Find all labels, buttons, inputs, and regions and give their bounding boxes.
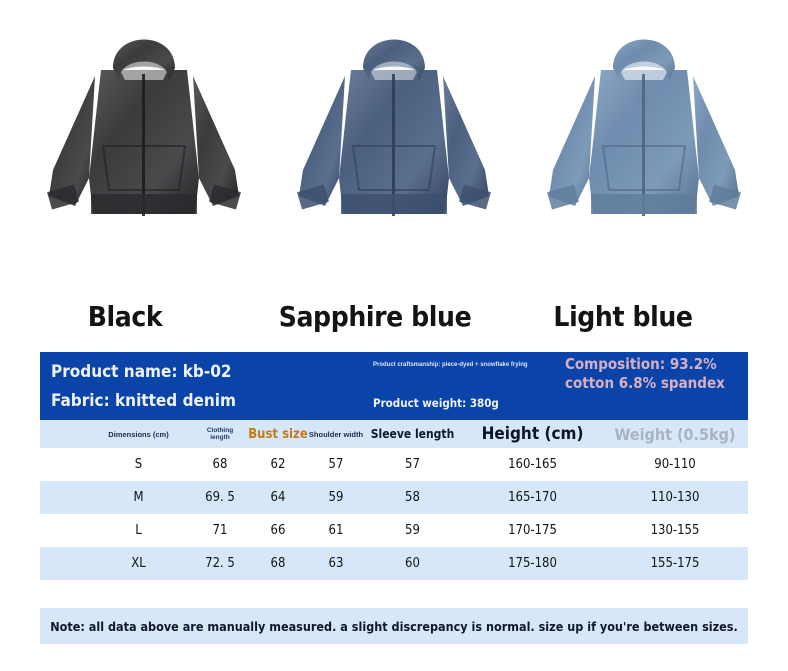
cell-height: 170-175	[460, 514, 605, 547]
cell-weight: 110-130	[605, 481, 745, 514]
hoodie-icon	[39, 18, 249, 230]
measurement-note-banner: Note: all data above are manually measur…	[40, 608, 748, 644]
header-bust-size: Bust size	[249, 420, 307, 448]
banner-middle-column: Product craftsmanship: piece-dyed + snow…	[373, 360, 588, 410]
hoodie-icon	[289, 18, 499, 230]
size-chart-page: Black Sapphire blue Light blue Product n…	[0, 0, 788, 671]
size-table: Dimensions (cm) Clothing length Bust siz…	[40, 420, 748, 580]
cell-clothing-length: 72. 5	[191, 547, 249, 580]
cell-weight: 155-175	[605, 547, 745, 580]
cell-size: L	[86, 514, 191, 547]
product-photo-light-blue[interactable]	[519, 0, 769, 262]
cell-weight: 90-110	[605, 448, 745, 481]
color-label-black: Black	[0, 300, 250, 333]
cell-height: 160-165	[460, 448, 605, 481]
header-weight: Weight (0.5kg)	[605, 420, 745, 448]
table-row: L 71 66 61 59 170-175 130-155	[40, 514, 748, 547]
product-photo-strip	[0, 0, 788, 262]
cell-weight: 130-155	[605, 514, 745, 547]
product-photo-black[interactable]	[19, 0, 269, 262]
header-shoulder-width: Shoulder width	[307, 420, 365, 448]
cell-shoulder: 59	[307, 481, 365, 514]
table-row: M 69. 5 64 59 58 165-170 110-130	[40, 481, 748, 514]
cell-bust: 66	[249, 514, 307, 547]
table-header-row: Dimensions (cm) Clothing length Bust siz…	[40, 420, 748, 448]
craftsmanship-text: Product craftsmanship: piece-dyed + snow…	[373, 360, 588, 370]
cell-clothing-length: 71	[191, 514, 249, 547]
banner-left-column: Product name: kb-02 Fabric: knitted deni…	[51, 358, 381, 416]
cell-sleeve: 59	[365, 514, 460, 547]
cell-size: XL	[86, 547, 191, 580]
color-label-light-blue: Light blue	[498, 300, 748, 333]
cell-clothing-length: 69. 5	[191, 481, 249, 514]
product-info-banner: Product name: kb-02 Fabric: knitted deni…	[40, 352, 748, 420]
header-sleeve-length: Sleeve length	[365, 420, 460, 448]
cell-sleeve: 57	[365, 448, 460, 481]
hoodie-icon	[539, 18, 749, 230]
cell-shoulder: 57	[307, 448, 365, 481]
cell-size: S	[86, 448, 191, 481]
cell-shoulder: 61	[307, 514, 365, 547]
product-name-text: Product name: kb-02	[51, 358, 381, 387]
color-name-row: Black Sapphire blue Light blue	[0, 300, 788, 348]
table-row: S 68 62 57 57 160-165 90-110	[40, 448, 748, 481]
header-clothing-length-line1: Clothing	[207, 427, 233, 435]
cell-height: 165-170	[460, 481, 605, 514]
product-photo-sapphire-blue[interactable]	[269, 0, 519, 262]
cell-sleeve: 60	[365, 547, 460, 580]
cell-bust: 62	[249, 448, 307, 481]
product-weight-text: Product weight: 380g	[373, 396, 588, 410]
cell-height: 175-180	[460, 547, 605, 580]
composition-text: Composition: 93.2% cotton 6.8% spandex	[565, 355, 745, 393]
cell-bust: 64	[249, 481, 307, 514]
banner-right-column: Composition: 93.2% cotton 6.8% spandex	[565, 355, 745, 393]
fabric-text: Fabric: knitted denim	[51, 387, 381, 416]
cell-size: M	[86, 481, 191, 514]
color-label-sapphire-blue: Sapphire blue	[250, 300, 500, 333]
measurement-note-text: Note: all data above are manually measur…	[50, 619, 738, 634]
header-height: Height (cm)	[460, 420, 605, 448]
cell-sleeve: 58	[365, 481, 460, 514]
cell-shoulder: 63	[307, 547, 365, 580]
header-clothing-length: Clothing length	[191, 420, 249, 448]
cell-bust: 68	[249, 547, 307, 580]
header-dimensions: Dimensions (cm)	[86, 420, 191, 448]
cell-clothing-length: 68	[191, 448, 249, 481]
table-row: XL 72. 5 68 63 60 175-180 155-175	[40, 547, 748, 580]
header-clothing-length-line2: length	[210, 434, 230, 442]
